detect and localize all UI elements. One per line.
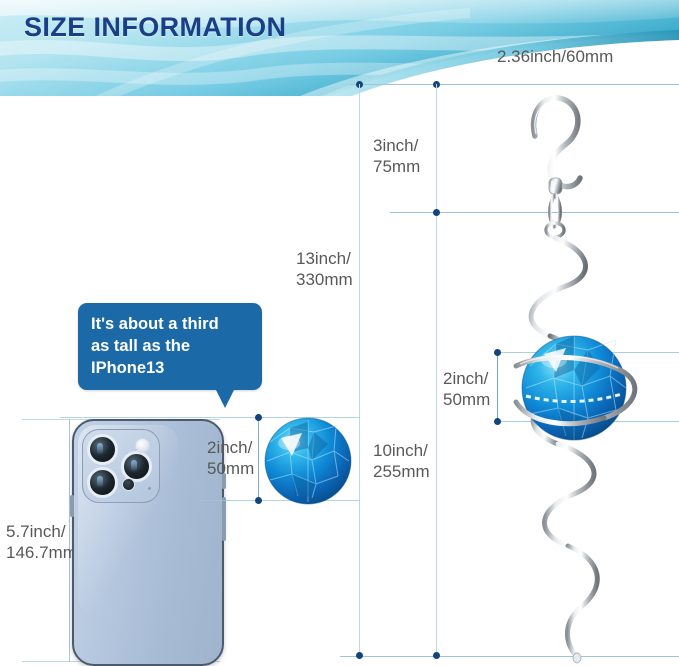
callout-line-1: It's about a third xyxy=(91,313,249,335)
swivel-connector xyxy=(546,178,564,237)
iphone-13-pro-image xyxy=(72,419,224,666)
guide-dot-compare-ball-top xyxy=(255,414,262,421)
callout-line-2: as tall as the xyxy=(91,335,249,357)
label-spinner-width: 2.36inch/60mm xyxy=(497,46,613,67)
guide-vline-compare-ball xyxy=(258,417,259,500)
page-title: SIZE INFORMATION xyxy=(24,12,286,43)
label-spiral-height: 10inch/ 255mm xyxy=(373,440,430,482)
guide-dot-compare-ball-bottom xyxy=(255,497,262,504)
camera-mic-icon xyxy=(148,487,151,490)
camera-module-icon xyxy=(82,429,160,503)
s-hook-icon xyxy=(534,98,580,187)
comparison-callout: It's about a third as tall as the IPhone… xyxy=(78,303,262,390)
crystal-wind-spinner xyxy=(470,78,679,666)
crystal-ball-comparison xyxy=(262,416,354,506)
camera-lens-ultrawide-icon xyxy=(87,467,118,498)
guide-dot-bottom-left xyxy=(356,652,363,659)
phone-power-button xyxy=(222,497,226,541)
guide-dot-hook-bottom xyxy=(433,209,440,216)
lidar-sensor-icon xyxy=(122,478,135,491)
label-total-height: 13inch/ 330mm xyxy=(296,248,353,290)
label-hook-height: 3inch/ 75mm xyxy=(373,135,420,177)
label-ball-diameter-compare: 2inch/ 50mm xyxy=(207,437,254,479)
camera-lens-wide-icon xyxy=(87,434,118,465)
infographic-canvas: SIZE INFORMATION 2.36inch/60mm 3inch/ 75… xyxy=(0,0,679,666)
camera-flash-icon xyxy=(135,438,150,453)
callout-line-3: IPhone13 xyxy=(91,357,249,379)
callout-tail xyxy=(212,382,238,408)
guide-vline-outer xyxy=(359,84,360,656)
label-phone-height: 5.7inch/ 146.7mm xyxy=(6,521,77,563)
phone-mute-switch xyxy=(70,495,74,517)
guide-vline-inner xyxy=(436,84,437,656)
guide-dot-bottom-mid xyxy=(433,652,440,659)
